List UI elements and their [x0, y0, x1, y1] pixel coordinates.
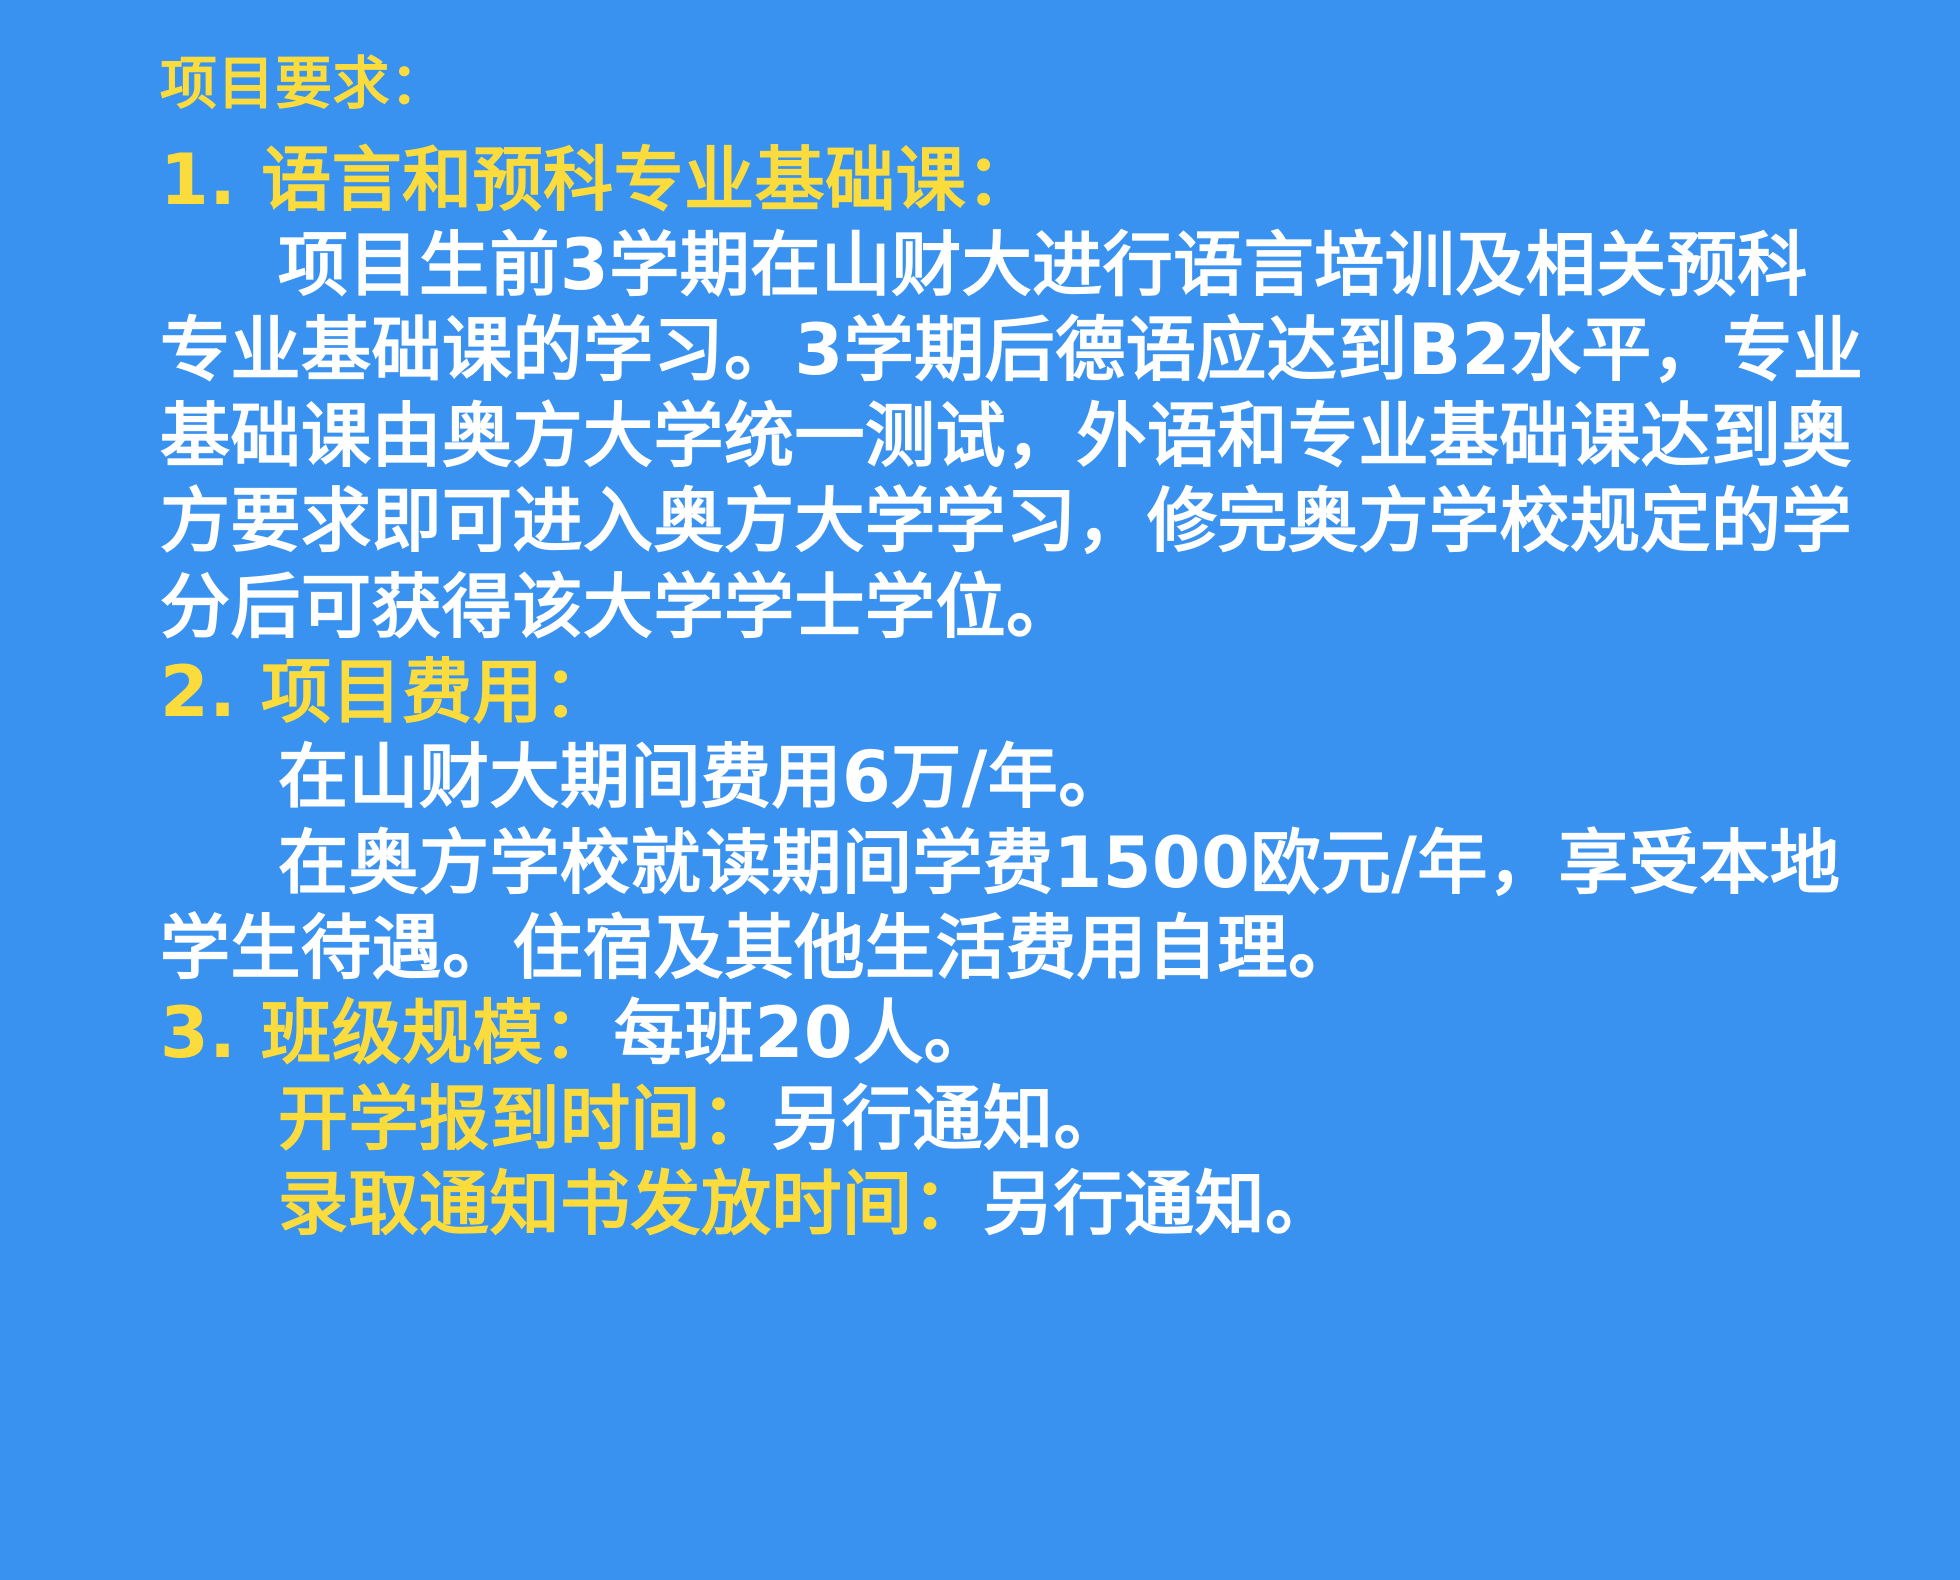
notice-enrollment-value: 另行通知。	[772, 1078, 1125, 1160]
notice-enrollment-label: 开学报到时间：	[278, 1078, 772, 1160]
slide-canvas: 项目要求： 1. 语言和预科专业基础课： 项目生前3学期在山财大进行语言培训及相…	[0, 0, 1960, 1580]
notice-enrollment-date: 开学报到时间：另行通知。	[160, 1077, 1870, 1162]
section-2-line-2: 在奥方学校就读期间学费1500欧元/年，享受本地	[160, 821, 1870, 906]
slide-content: 项目要求： 1. 语言和预科专业基础课： 项目生前3学期在山财大进行语言培训及相…	[160, 52, 1870, 1248]
section-2-line-3: 学生待遇。住宿及其他生活费用自理。	[160, 906, 1870, 991]
section-2-line-1: 在山财大期间费用6万/年。	[160, 735, 1870, 820]
section-1-line-2: 专业基础课的学习。3学期后德语应达到B2水平，专业	[160, 308, 1870, 393]
section-3-label: 3. 班级规模：	[160, 992, 614, 1074]
section-1-line-1: 项目生前3学期在山财大进行语言培训及相关预科	[160, 223, 1870, 308]
section-1-line-3: 基础课由奥方大学统一测试，外语和专业基础课达到奥	[160, 394, 1870, 479]
section-heading-1: 1. 语言和预科专业基础课：	[160, 138, 1870, 223]
section-heading-3: 3. 班级规模：每班20人。	[160, 991, 1870, 1076]
notice-admission-label: 录取通知书发放时间：	[278, 1163, 983, 1245]
notice-admission-value: 另行通知。	[983, 1163, 1336, 1245]
section-heading-2: 2. 项目费用：	[160, 650, 1870, 735]
notice-admission-letter-date: 录取通知书发放时间：另行通知。	[160, 1162, 1870, 1247]
section-1-line-4: 方要求即可进入奥方大学学习，修完奥方学校规定的学	[160, 479, 1870, 564]
section-1-line-5: 分后可获得该大学学士学位。	[160, 565, 1870, 650]
section-3-value: 每班20人。	[614, 992, 994, 1074]
page-title: 项目要求：	[160, 52, 1870, 118]
